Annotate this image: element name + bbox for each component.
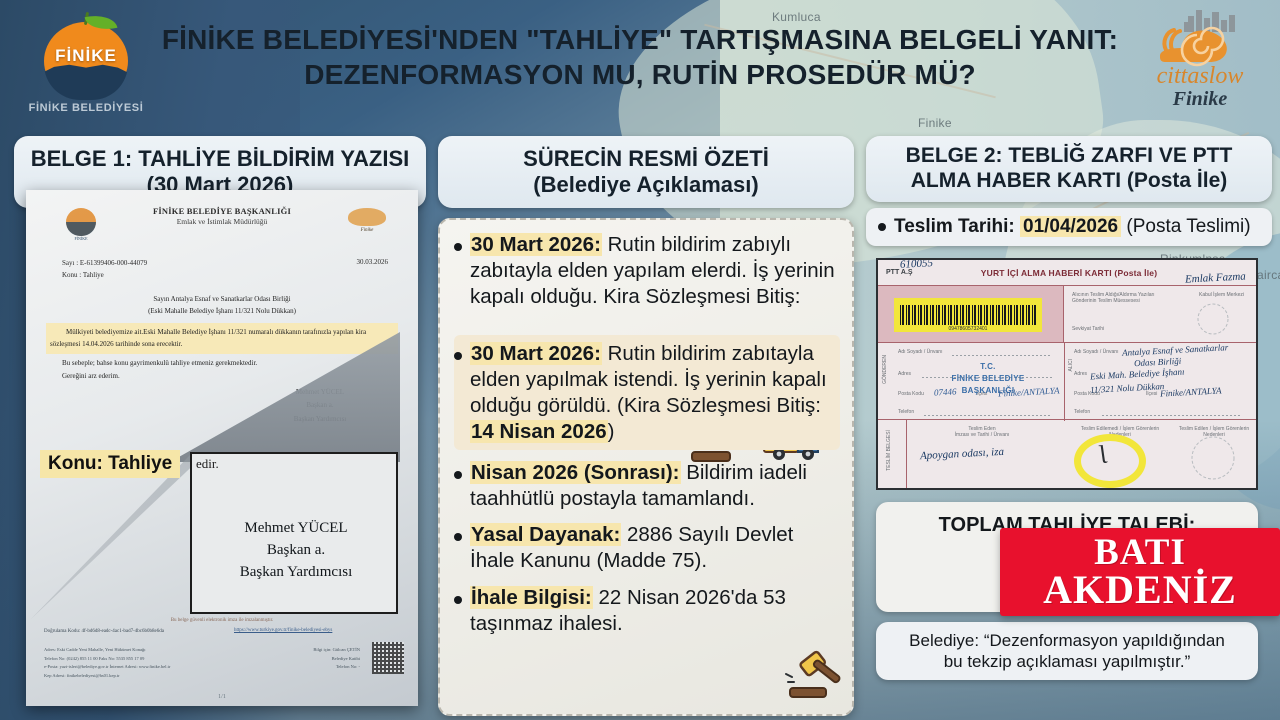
headline-line-2: DEZENFORMASYON MU, RUTİN PROSEDÜR MÜ? <box>150 57 1130 92</box>
bullet-label: 30 Mart 2026: <box>470 342 602 365</box>
ptt-label-sevk: Sevkiyat Tarihi <box>1072 326 1104 332</box>
postmark-circle-icon-2 <box>1186 434 1240 482</box>
gavel-icon-secondary <box>780 650 846 708</box>
document-verification-code: Doğrulama Kodu: 4f-bd6d8-eadc-4ac1-bad7-… <box>44 628 164 637</box>
bullet-highlight-date: 14 Nisan 2026 <box>470 420 608 443</box>
document-sayi: Sayı : E-61399406-000-44079 <box>62 258 147 270</box>
municipality-quote-box: Belediye: “Dezenformasyon yapıldığından … <box>876 622 1258 680</box>
yellow-highlight-ring <box>1074 434 1146 488</box>
callout-signature: Mehmet YÜCEL Başkan a. Başkan Yardımcısı <box>192 518 400 583</box>
ptt-delivery-receipt-card: PTT A.Ş YURT İÇİ ALMA HABERİ KARTI (Post… <box>876 258 1258 490</box>
ptt-label-delivered-by: Teslim Eden İmzası ve Tarihi / Ünvanı <box>922 426 1042 438</box>
ptt-hand-recipient-3: Eski Mah. Belediye İşhanı <box>1090 367 1185 382</box>
batiakdeniz-watermark: BATI AKDENİZ <box>1000 528 1280 616</box>
bullet-label: Yasal Dayanak: <box>470 523 621 546</box>
bullet-label: İhale Bilgisi: <box>470 586 593 609</box>
callout-signer-name: Mehmet YÜCEL <box>192 518 400 540</box>
ptt-receipt-vertical-label: TESLİM BELGESİ <box>886 430 892 471</box>
ptt-barcode-band: 09478605732401 <box>878 286 1064 342</box>
document-verification-link: https://www.turkiye.gov.tr/finike-beledi… <box>234 628 332 633</box>
page-title: FİNİKE BELEDİYESİ'NDEN "TAHLİYE" TARTIŞM… <box>150 22 1130 93</box>
document-page-number: 1/1 <box>26 694 418 700</box>
ptt-recipient-vertical-label: ALICI <box>1068 359 1074 372</box>
document-recipient: Sayın Antalya Esnaf ve Sanatkarlar Odası… <box>26 294 418 318</box>
ptt-label-phone-left: Telefon <box>898 409 914 415</box>
ptt-label-kabul: Kabul İşlem Merkezi <box>1199 292 1244 298</box>
bullet-dot-icon <box>454 352 462 360</box>
stamp-line-2: FİNİKE BELEDİYE <box>928 373 1048 385</box>
document-footer-contact: Bilgi için: Gülcan ÇETİN Belediye Katibi… <box>268 646 360 672</box>
ptt-sender-vertical-label: GÖNDEREN <box>882 355 888 384</box>
barcode-icon <box>900 305 1036 325</box>
document-reference-block: Sayı : E-61399406-000-44079 Konu : Tahli… <box>62 258 147 282</box>
bullet-item: 30 Mart 2026: Rutin bildirim zabıylı zab… <box>454 232 840 311</box>
callout-edge-text: edir. <box>196 456 219 472</box>
ptt-label-name-left: Adı Soyadı / Ünvanı <box>898 349 942 355</box>
callout-signer-role-2: Başkan Yardımcısı <box>192 562 400 584</box>
bullet-body-part-2: ) <box>608 420 615 443</box>
document-konu: Konu : Tahliye <box>62 270 147 282</box>
callout-signer-role-1: Başkan a. <box>192 540 400 562</box>
ptt-label-postcode-left: Posta Kodu <box>898 391 924 397</box>
bullet-dot-icon <box>454 533 462 541</box>
ptt-delivery-confirmation-row: TESLİM BELGESİ Teslim Eden İmzası ve Tar… <box>878 420 1258 490</box>
ptt-hand-recipient-district: Finike/ANTALYA <box>1160 385 1222 398</box>
right-heading-line-1: BELGE 2: TEBLİĞ ZARFI VE PTT <box>874 144 1264 169</box>
wave-shape <box>44 64 128 100</box>
logo-subtitle: FİNİKE BELEDİYESİ <box>29 102 144 114</box>
bullet-text: İhale Bilgisi: 22 Nisan 2026'da 53 taşın… <box>470 585 840 637</box>
ptt-label-phone-right: Telefon <box>1074 409 1090 415</box>
quote-line-1: Belediye: “Dezenformasyon yapıldığından <box>909 630 1225 651</box>
finike-belediyesi-logo: FİNİKE FİNİKE BELEDİYESİ <box>24 12 148 124</box>
bullet-label: Nisan 2026 (Sonrası): <box>470 461 681 484</box>
process-summary-panel: 30 Mart 2026: Rutin bildirim zabıylı zab… <box>438 218 854 716</box>
logo-wordmark: FİNİKE <box>38 46 134 66</box>
infographic-canvas: Kumluca Finike Rinkumlnsa Dairca FİNİKE … <box>0 0 1280 720</box>
bullet-item: 30 Mart 2026: Rutin bildirim zabıtayla e… <box>454 335 840 450</box>
ptt-hand-district-left: Finike/ANTALYA <box>998 385 1060 398</box>
quote-line-2: bu tekzip açıklaması yapılmıştır.” <box>909 651 1225 672</box>
snail-icon <box>1148 6 1252 68</box>
bullet-text: 30 Mart 2026: Rutin bildirim zabıylı zab… <box>470 232 840 311</box>
document-recipient-line-2: (Eski Mahalle Belediye İşhanı 11/321 Nol… <box>26 306 418 318</box>
ptt-office-band: Alıcının Teslim Aldığı/Aldırma Yazıları … <box>1064 286 1258 342</box>
document-recipient-line-1: Sayın Antalya Esnaf ve Sanatkarlar Odası… <box>26 294 418 306</box>
bullet-item: Yasal Dayanak: 2886 Sayılı Devlet İhale … <box>454 522 840 574</box>
bullet-dot-icon <box>454 596 462 604</box>
middle-column-heading: SÜRECİN RESMİ ÖZETİ (Belediye Açıklaması… <box>438 136 854 208</box>
konu-tahliye-badge: Konu: Tahliye <box>40 450 180 478</box>
bullet-dot-icon <box>454 243 462 251</box>
delivery-date-text: Teslim Tarihi: 01/04/2026 (Posta Teslimi… <box>894 216 1251 238</box>
bullet-label: 30 Mart 2026: <box>470 233 602 256</box>
delivery-date-bar: Teslim Tarihi: 01/04/2026 (Posta Teslimi… <box>866 208 1272 246</box>
bullet-text: Yasal Dayanak: 2886 Sayılı Devlet İhale … <box>470 522 840 574</box>
document-body-highlighted: Mülkiyeti belediyemize ait.Eski Mahalle … <box>46 323 398 354</box>
left-heading-line-1: BELGE 1: TAHLİYE BİLDİRİM YAZISI <box>22 146 418 172</box>
middle-column: SÜRECİN RESMİ ÖZETİ (Belediye Açıklaması… <box>438 136 854 716</box>
watermark-line-2: AKDENİZ <box>1043 571 1237 609</box>
signature-zoom-callout: edir. Mehmet YÜCEL Başkan a. Başkan Yard… <box>190 452 398 614</box>
middle-heading-line-2: (Belediye Açıklaması) <box>448 172 844 198</box>
right-column-heading: BELGE 2: TEBLİĞ ZARFI VE PTT ALMA HABER … <box>866 136 1272 202</box>
delivery-date-label: Teslim Tarihi: <box>894 216 1015 237</box>
bullet-item: Nisan 2026 (Sonrası): Bildirim iadeli ta… <box>454 460 840 512</box>
right-heading-line-2: ALMA HABER KARTI (Posta İle) <box>874 169 1264 194</box>
ptt-hand-postcode-left: 07446 <box>934 386 957 397</box>
document-org-unit: Emlak ve İstimlak Müdürlüğü <box>26 217 418 226</box>
delivery-date-value: 01/04/2026 <box>1020 216 1121 237</box>
bullet-dot-icon <box>454 471 462 479</box>
ptt-hand-signature: Apoygan odası, iza <box>920 446 1005 462</box>
bullet-text: 30 Mart 2026: Rutin bildirim zabıtayla e… <box>470 341 834 446</box>
bullet-item: İhale Bilgisi: 22 Nisan 2026'da 53 taşın… <box>454 585 840 637</box>
qr-code-icon <box>372 642 404 674</box>
document-date: 30.03.2026 <box>357 258 389 266</box>
document-org-title: FİNİKE BELEDİYE BAŞKANLIĞI <box>26 206 418 216</box>
postmark-circle-icon <box>1190 302 1236 336</box>
cittaslow-logo: cittaslow Finike <box>1130 6 1270 124</box>
delivery-date-suffix: (Posta Teslimi) <box>1126 216 1250 237</box>
ptt-label-name-right: Adı Soyadı / Ünvanı <box>1074 349 1118 355</box>
middle-heading-line-1: SÜRECİN RESMİ ÖZETİ <box>448 146 844 172</box>
barcode-number: 09478605732401 <box>894 326 1042 332</box>
cittaslow-city: Finike <box>1173 88 1227 110</box>
header: FİNİKE FİNİKE BELEDİYESİ FİNİKE BELEDİYE… <box>0 0 1280 128</box>
ptt-handwriting-top-left: 610055 <box>900 258 934 271</box>
stamp-line-1: T.C. <box>928 361 1048 373</box>
ptt-label-address-left: Adres <box>898 371 911 377</box>
bullet-dot-icon <box>878 223 886 231</box>
watermark-line-1: BATI <box>1094 535 1186 571</box>
ptt-label-address-right: Adres <box>1074 371 1087 377</box>
orange-fruit-icon: FİNİKE <box>38 12 134 100</box>
cittaslow-wordmark: cittaslow <box>1157 64 1244 88</box>
document-esignature-note: Bu belge güvenli elektronik imza ile imz… <box>26 618 418 623</box>
ptt-sender-recipient-row: GÖNDEREN Adı Soyadı / Ünvanı Adres Posta… <box>878 342 1258 420</box>
headline-line-1: FİNİKE BELEDİYESİ'NDEN "TAHLİYE" TARTIŞM… <box>162 24 1118 55</box>
bullet-text: Nisan 2026 (Sonrası): Bildirim iadeli ta… <box>470 460 840 512</box>
ptt-label-sender-office: Alıcının Teslim Aldığı/Aldırma Yazıları … <box>1072 292 1155 304</box>
